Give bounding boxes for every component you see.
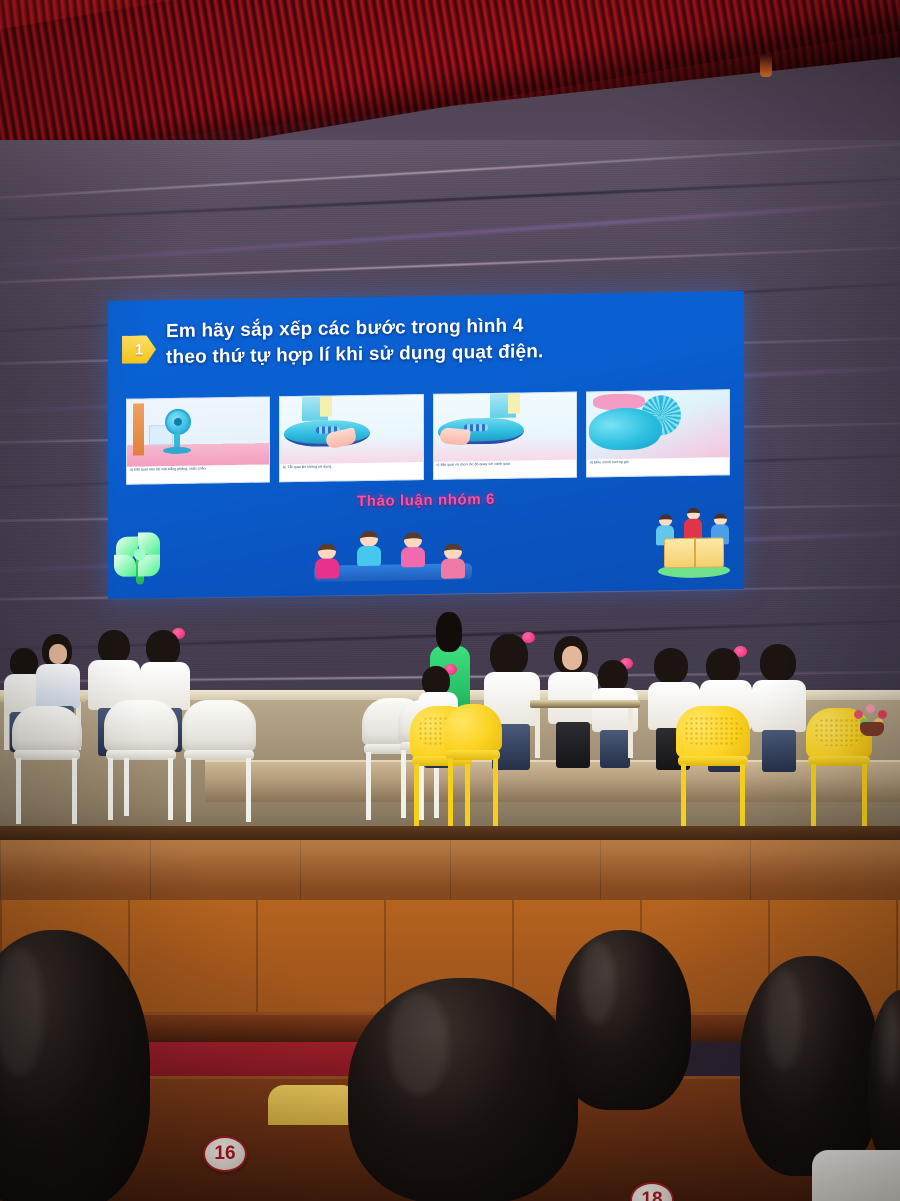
audience-head-3 bbox=[556, 930, 691, 1110]
green-pinwheel-fan-icon bbox=[112, 530, 168, 589]
student-right-7 bbox=[752, 644, 806, 772]
slide-panel-b-caption: b) Tắt quạt khi không sử dụng. bbox=[280, 462, 422, 481]
children-with-open-book-icon bbox=[656, 507, 732, 582]
slide-panel-d-caption: d) Điều chỉnh hướng gió. bbox=[587, 457, 729, 476]
audience-head-4 bbox=[740, 956, 880, 1176]
flower-arrangement-icon bbox=[848, 700, 896, 736]
white-chair-2 bbox=[182, 700, 256, 822]
white-chair-1 bbox=[104, 700, 178, 820]
audience-foreground: 16 18 bbox=[0, 900, 900, 1201]
ceiling-lamp-icon bbox=[760, 55, 772, 77]
question-number-badge: 1 bbox=[122, 335, 156, 364]
photo-scene: 1 Em hãy sắp xếp các bước trong hình 4 t… bbox=[0, 0, 900, 1201]
fan-on-floor-icon bbox=[127, 397, 269, 466]
slide-panel-c: c) Bật quạt và chọn tốc độ quay với cánh… bbox=[433, 392, 577, 480]
yellow-chair-3 bbox=[676, 706, 750, 834]
hand-pressing-fan-button-icon bbox=[280, 395, 422, 464]
slide-image-panels: a) Đặt quạt trên bề mặt bằng phẳng, chắc… bbox=[126, 389, 730, 484]
hand-selecting-fan-speed-icon bbox=[434, 393, 576, 462]
slide-panel-d: d) Điều chỉnh hướng gió. bbox=[586, 389, 730, 477]
slide-headline: Em hãy sắp xếp các bước trong hình 4 the… bbox=[166, 314, 544, 371]
headline-line-2: theo thứ tự hợp lí khi sử dụng quạt điện… bbox=[166, 339, 544, 371]
discussion-title: Thảo luận nhóm 6 bbox=[108, 487, 744, 514]
slide-panel-a-caption: a) Đặt quạt trên bề mặt bằng phẳng, chắc… bbox=[127, 464, 269, 483]
presentation-slide: 1 Em hãy sắp xếp các bước trong hình 4 t… bbox=[108, 291, 744, 599]
audience-shoulder-white bbox=[812, 1150, 900, 1201]
student-desk-right bbox=[530, 700, 640, 758]
slide-panel-a: a) Đặt quạt trên bề mặt bằng phẳng, chắc… bbox=[126, 396, 270, 484]
children-group-discussion-icon bbox=[308, 513, 478, 588]
slide-panel-c-caption: c) Bật quạt và chọn tốc độ quay với cánh… bbox=[434, 460, 576, 479]
slide-question-header: 1 Em hãy sắp xếp các bước trong hình 4 t… bbox=[108, 305, 744, 377]
seat-number-plate-16: 16 bbox=[203, 1136, 247, 1172]
audience-shoulder-yellow bbox=[268, 1085, 358, 1125]
slide-panel-b: b) Tắt quạt khi không sử dụng. bbox=[279, 394, 423, 482]
fan-blades-closeup-icon bbox=[587, 390, 729, 459]
yellow-chair-2 bbox=[444, 704, 502, 830]
white-chair-3 bbox=[12, 706, 82, 824]
audience-head-2 bbox=[348, 978, 578, 1201]
